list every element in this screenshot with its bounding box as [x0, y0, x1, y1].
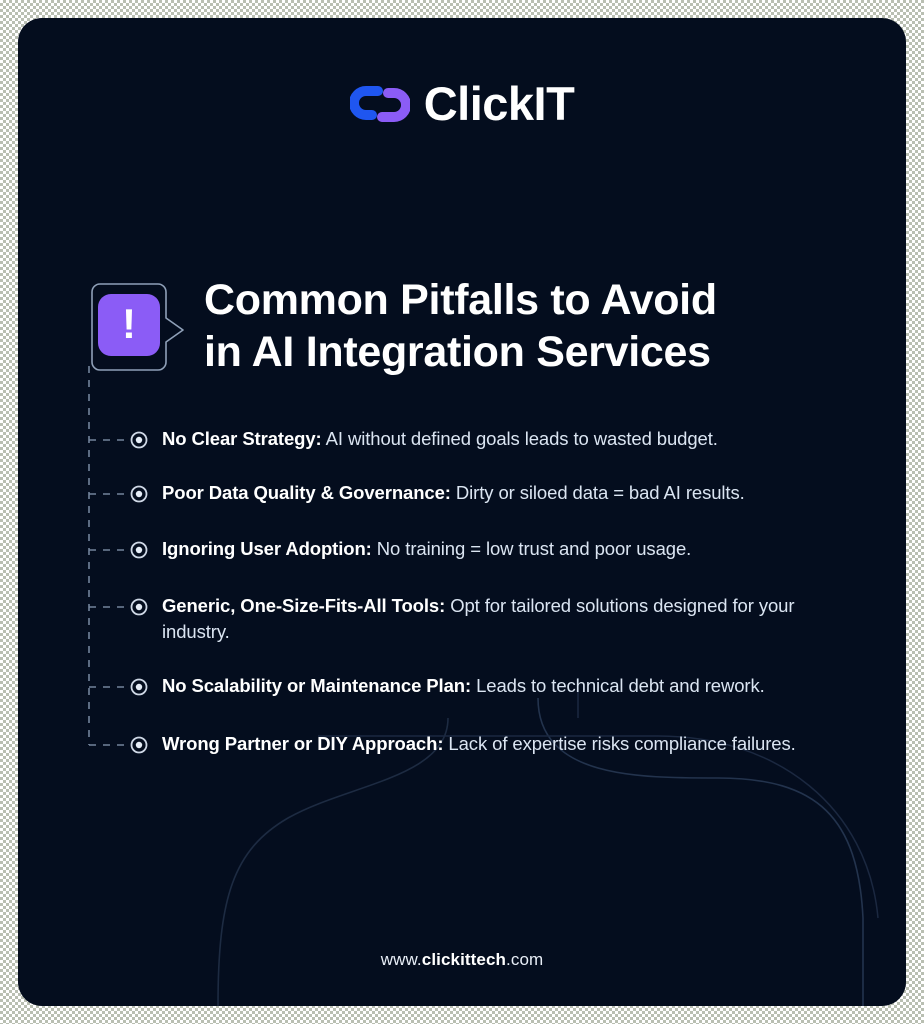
footer-tld: .com [506, 950, 543, 969]
list-item-lead: Ignoring User Adoption: [162, 538, 372, 559]
footer-prefix: www. [381, 950, 422, 969]
list-item: Generic, One-Size-Fits-All Tools: Opt fo… [162, 593, 862, 644]
dashed-tree-connector [18, 18, 906, 1006]
list-item-lead: No Clear Strategy: [162, 428, 322, 449]
headline-block: ! Common Pitfalls to Avoid in AI Integra… [82, 266, 872, 382]
brand-name: ClickIT [424, 80, 575, 127]
alert-badge: ! [82, 278, 186, 382]
list-item: Wrong Partner or DIY Approach: Lack of e… [162, 731, 842, 757]
page-title: Common Pitfalls to Avoid in AI Integrati… [204, 274, 717, 379]
infographic-card: ClickIT [18, 18, 906, 1006]
footer-url[interactable]: www.clickittech.com [18, 950, 906, 970]
decorative-background-curves [18, 18, 906, 1006]
list-item: No Scalability or Maintenance Plan: Lead… [162, 673, 872, 699]
list-item-text: Dirty or siloed data = bad AI results. [451, 482, 745, 503]
image-canvas: ClickIT [0, 0, 924, 1024]
brand-logo: ClickIT [18, 80, 906, 127]
list-item: Ignoring User Adoption: No training = lo… [162, 536, 862, 562]
list-item-lead: Generic, One-Size-Fits-All Tools: [162, 595, 445, 616]
list-item-text: AI without defined goals leads to wasted… [322, 428, 718, 449]
clickit-infinity-logo-icon [350, 81, 410, 127]
list-item-text: No training = low trust and poor usage. [372, 538, 691, 559]
list-item-text: Leads to technical debt and rework. [471, 675, 765, 696]
ring-dot-marker-icon [132, 433, 147, 753]
footer-domain: clickittech [422, 950, 506, 969]
list-item-lead: Poor Data Quality & Governance: [162, 482, 451, 503]
list-item-text: Lack of expertise risks compliance failu… [443, 733, 795, 754]
list-item: Poor Data Quality & Governance: Dirty or… [162, 480, 862, 506]
list-item-lead: No Scalability or Maintenance Plan: [162, 675, 471, 696]
list-item: No Clear Strategy: AI without defined go… [162, 426, 862, 452]
list-item-lead: Wrong Partner or DIY Approach: [162, 733, 443, 754]
exclamation-mark-icon: ! [98, 294, 160, 356]
